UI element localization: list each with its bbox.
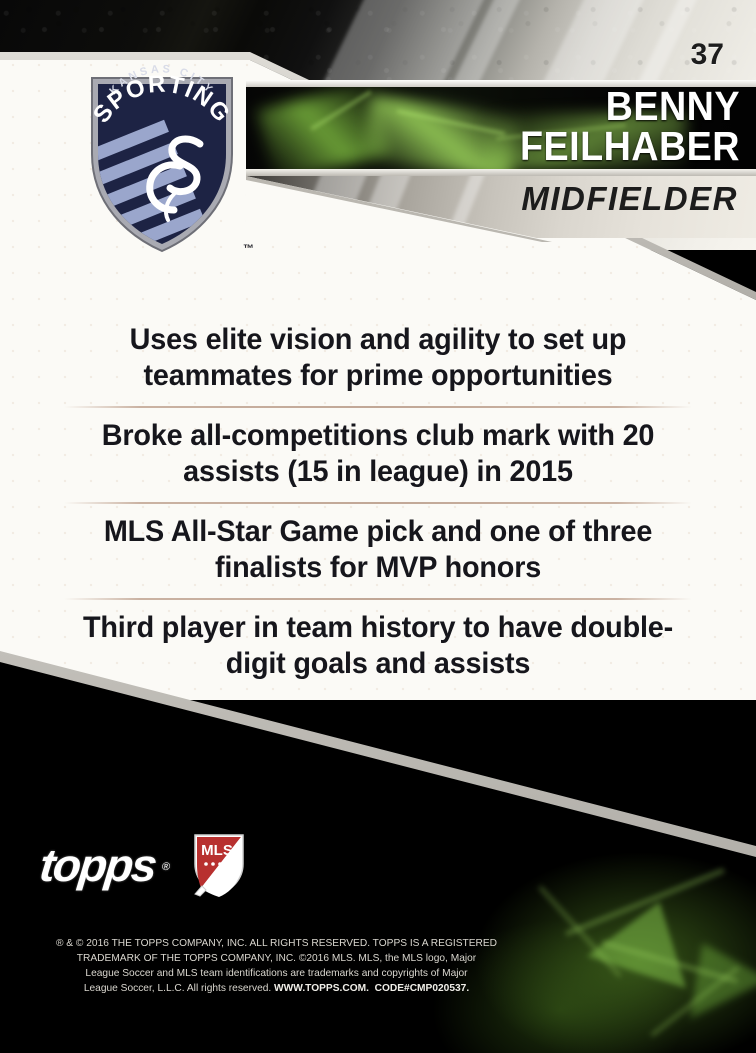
topps-registered-mark: ® [159, 844, 170, 890]
player-name: BENNY FEILHABER [298, 86, 740, 166]
card-code: CODE#CMP020537. [375, 982, 470, 994]
name-band-bottom-rule [246, 169, 756, 176]
crest-icon: KANSAS CITY SPORTING [82, 58, 242, 253]
trading-card: 37 BENNY FEILHABER MIDFIELDER [0, 0, 756, 1053]
fact-item: Third player in team history to have dou… [63, 600, 693, 694]
copyright-line: League Soccer, L.L.C. All rights reserve… [34, 981, 519, 996]
topps-website: WWW.TOPPS.COM. [274, 982, 369, 994]
crest-trademark: ™ [243, 243, 254, 255]
topps-wordmark: topps [37, 839, 158, 891]
brand-logo-row: topps ® MLS [40, 832, 247, 898]
mls-shield-icon: MLS [191, 832, 247, 898]
copyright-text: League Soccer, L.L.C. All rights reserve… [84, 982, 274, 994]
player-last-name: FEILHABER [298, 126, 740, 166]
copyright-line: TRADEMARK OF THE TOPPS COMPANY, INC. ©20… [34, 951, 519, 966]
player-first-name: BENNY [298, 86, 740, 126]
svg-text:MLS: MLS [201, 842, 233, 859]
card-number: 37 [691, 38, 724, 72]
copyright-line: ® & © 2016 THE TOPPS COMPANY, INC. ALL R… [34, 936, 519, 951]
fact-item: Broke all-competitions club mark with 20… [63, 408, 693, 502]
topps-logo: topps ® [38, 842, 158, 888]
mls-logo: MLS [191, 832, 247, 898]
fact-item: Uses elite vision and agility to set up … [63, 312, 693, 406]
copyright-block: ® & © 2016 THE TOPPS COMPANY, INC. ALL R… [34, 936, 519, 996]
fact-item: MLS All-Star Game pick and one of three … [63, 504, 693, 598]
copyright-line: League Soccer and MLS team identificatio… [34, 966, 519, 981]
player-position: MIDFIELDER [521, 180, 738, 218]
player-facts-list: Uses elite vision and agility to set up … [50, 312, 706, 694]
team-crest-sporting-kansas-city: KANSAS CITY SPORTING ™ [82, 58, 242, 253]
